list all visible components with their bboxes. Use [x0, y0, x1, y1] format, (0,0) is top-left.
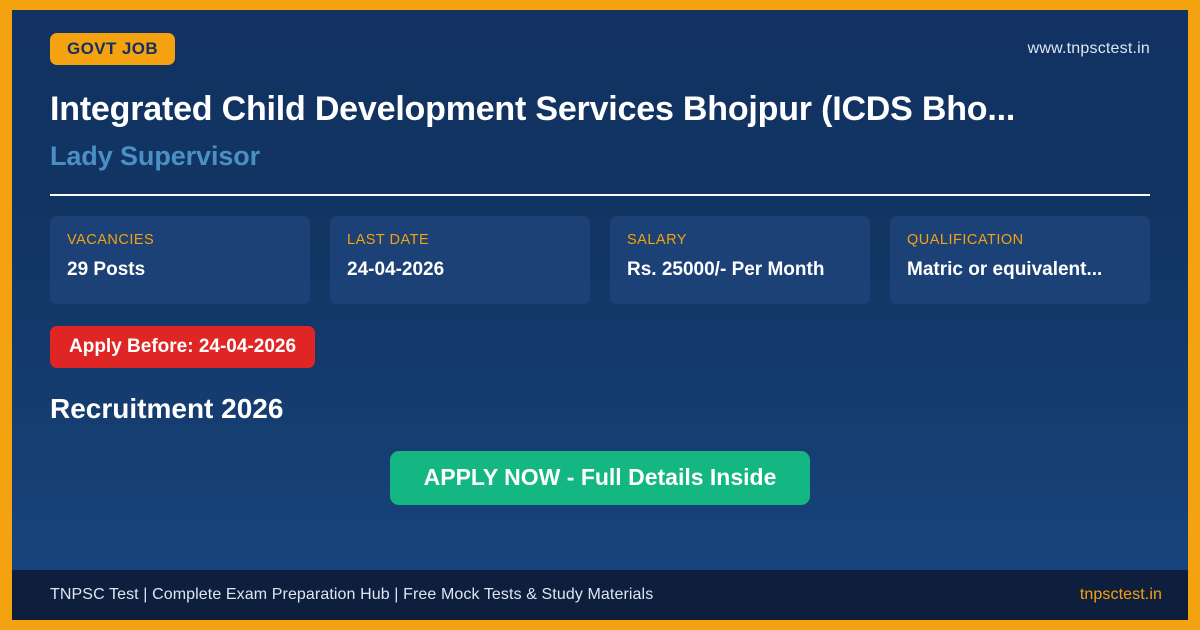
- info-card-qualification: QUALIFICATION Matric or equivalent...: [890, 216, 1150, 304]
- info-card-label: SALARY: [627, 233, 854, 248]
- info-card-vacancies: VACANCIES 29 Posts: [50, 216, 310, 304]
- info-card-value: 24-04-2026: [347, 259, 574, 281]
- info-card-row: VACANCIES 29 Posts LAST DATE 24-04-2026 …: [50, 216, 1150, 304]
- apply-now-button[interactable]: APPLY NOW - Full Details Inside: [390, 451, 811, 505]
- poster-body: GOVT JOB www.tnpsctest.in Integrated Chi…: [12, 10, 1188, 570]
- govt-job-badge: GOVT JOB: [50, 33, 175, 65]
- job-poster: GOVT JOB www.tnpsctest.in Integrated Chi…: [0, 0, 1200, 630]
- footer-brand-label: tnpsctest.in: [1080, 586, 1162, 604]
- info-card-value: 29 Posts: [67, 259, 294, 281]
- info-card-value: Rs. 25000/- Per Month: [627, 259, 854, 281]
- info-card-label: LAST DATE: [347, 233, 574, 248]
- recruitment-heading: Recruitment 2026: [50, 394, 1150, 425]
- info-card-last-date: LAST DATE 24-04-2026: [330, 216, 590, 304]
- info-card-value: Matric or equivalent...: [907, 259, 1134, 281]
- cta-container: APPLY NOW - Full Details Inside: [50, 451, 1150, 505]
- footer-tagline: TNPSC Test | Complete Exam Preparation H…: [50, 586, 653, 604]
- poster-top-row: GOVT JOB www.tnpsctest.in: [50, 32, 1150, 66]
- site-url-label: www.tnpsctest.in: [1028, 40, 1150, 58]
- info-card-salary: SALARY Rs. 25000/- Per Month: [610, 216, 870, 304]
- post-name-subtitle: Lady Supervisor: [50, 142, 1150, 172]
- apply-before-badge: Apply Before: 24-04-2026: [50, 326, 315, 368]
- header-divider: [50, 194, 1150, 196]
- info-card-label: VACANCIES: [67, 233, 294, 248]
- poster-footer: TNPSC Test | Complete Exam Preparation H…: [12, 570, 1188, 620]
- info-card-label: QUALIFICATION: [907, 233, 1134, 248]
- page-title: Integrated Child Development Services Bh…: [50, 90, 1150, 128]
